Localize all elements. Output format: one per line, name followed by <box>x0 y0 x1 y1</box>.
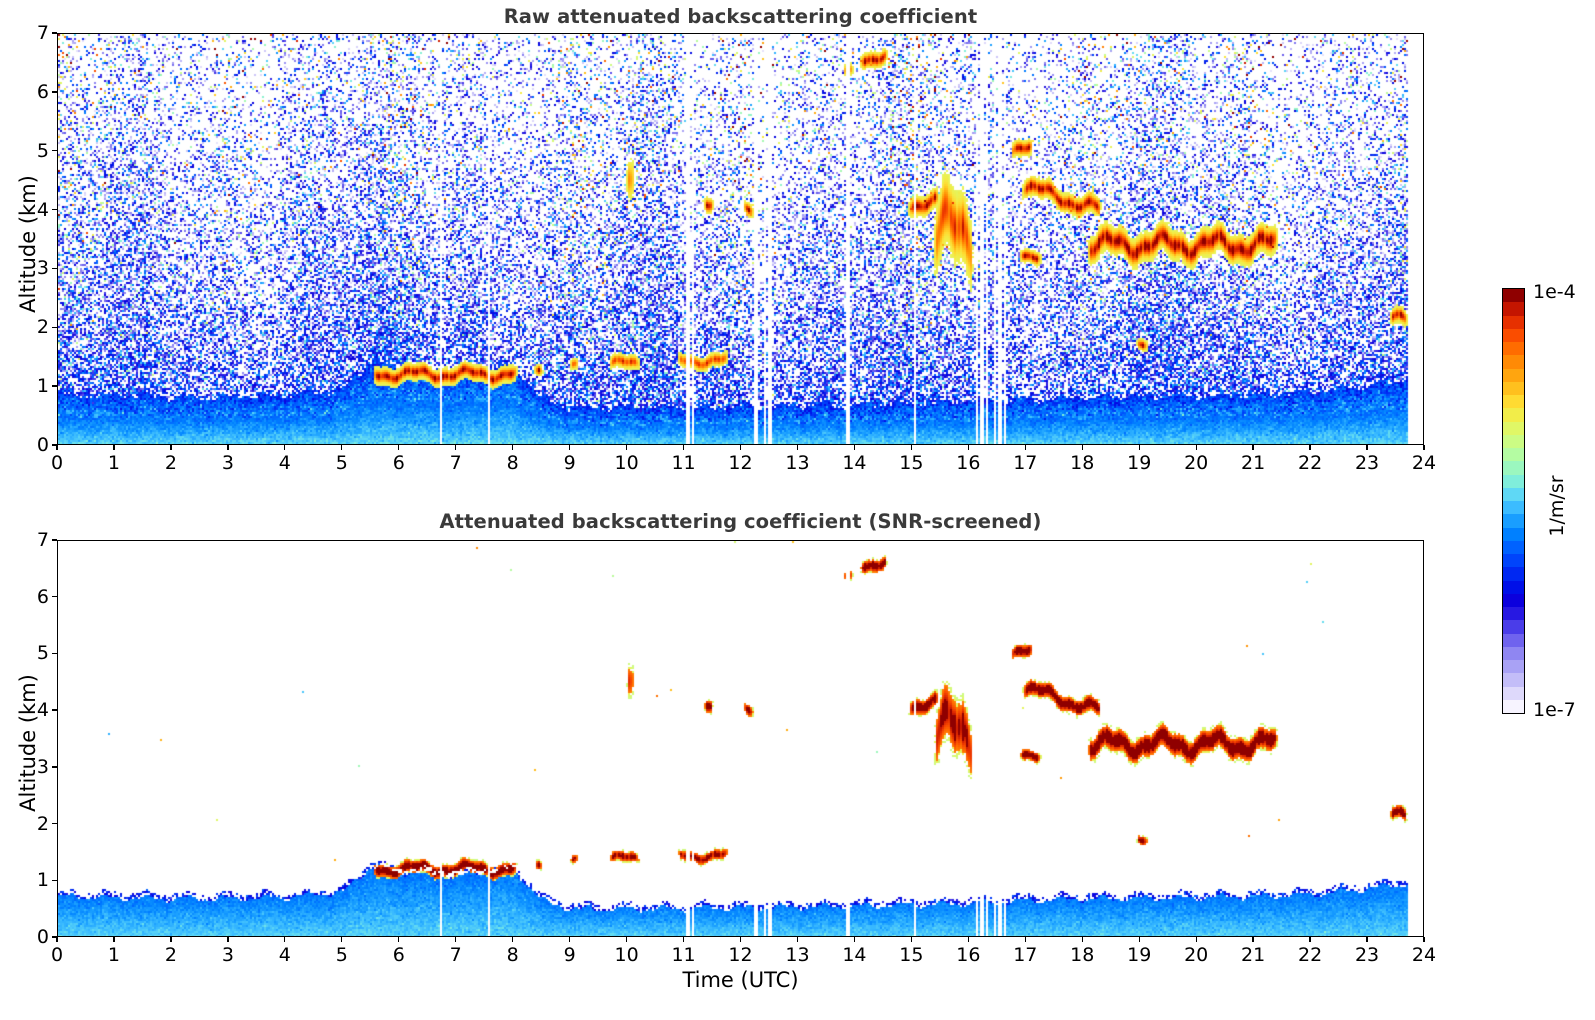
y-tick-mark <box>52 32 57 33</box>
x-tick-label: 19 <box>1119 944 1159 966</box>
colorbar-segment <box>1503 687 1524 700</box>
colorbar-segment <box>1503 528 1524 541</box>
x-tick-label: 17 <box>1005 452 1045 474</box>
x-tick-label: 21 <box>1233 944 1273 966</box>
y-tick-mark <box>52 385 57 386</box>
x-tick-mark <box>1252 937 1253 942</box>
x-tick-label: 12 <box>721 944 761 966</box>
y-axis-label-raw: Altitude (km) <box>16 164 40 324</box>
x-tick-label: 23 <box>1347 944 1387 966</box>
colorbar-segment <box>1503 488 1524 501</box>
x-tick-mark <box>455 445 456 450</box>
x-tick-mark <box>455 937 456 942</box>
x-tick-mark <box>1025 445 1026 450</box>
x-tick-mark <box>740 445 741 450</box>
x-tick-mark <box>569 937 570 942</box>
figure-canvas: Raw attenuated backscattering coefficien… <box>0 0 1595 1020</box>
x-tick-label: 14 <box>834 452 874 474</box>
x-tick-mark <box>398 445 399 450</box>
y-tick-mark <box>52 596 57 597</box>
x-tick-label: 18 <box>1062 944 1102 966</box>
x-tick-mark <box>284 445 285 450</box>
x-tick-mark <box>1082 937 1083 942</box>
x-tick-mark <box>797 937 798 942</box>
colorbar-segment <box>1503 435 1524 448</box>
colorbar-segment <box>1503 461 1524 474</box>
x-tick-label: 13 <box>777 452 817 474</box>
x-tick-label: 8 <box>493 944 533 966</box>
x-tick-mark <box>227 937 228 942</box>
x-tick-mark <box>1196 445 1197 450</box>
y-tick-label: 7 <box>19 529 49 551</box>
x-tick-mark <box>626 937 627 942</box>
colorbar-segment <box>1503 289 1524 302</box>
x-tick-label: 11 <box>664 452 704 474</box>
x-tick-label: 1 <box>94 452 134 474</box>
x-tick-mark <box>569 445 570 450</box>
colorbar-segment <box>1503 382 1524 395</box>
x-tick-mark <box>683 445 684 450</box>
x-tick-label: 24 <box>1404 944 1444 966</box>
plot-area-raw <box>57 33 1424 445</box>
x-tick-label: 16 <box>948 944 988 966</box>
x-tick-mark <box>1309 937 1310 942</box>
x-tick-mark <box>284 937 285 942</box>
colorbar-segment <box>1503 660 1524 673</box>
x-tick-mark <box>170 445 171 450</box>
y-tick-mark <box>52 539 57 540</box>
x-tick-mark <box>1082 445 1083 450</box>
colorbar-segment <box>1503 422 1524 435</box>
y-tick-mark <box>52 709 57 710</box>
x-tick-label: 4 <box>265 452 305 474</box>
y-axis-label-screened: Altitude (km) <box>16 663 40 823</box>
panel-title-screened: Attenuated backscattering coefficient (S… <box>57 510 1424 533</box>
x-tick-label: 5 <box>322 452 362 474</box>
x-tick-mark <box>968 445 969 450</box>
x-tick-mark <box>398 937 399 942</box>
x-tick-label: 7 <box>436 944 476 966</box>
colorbar-segment <box>1503 567 1524 580</box>
y-tick-mark <box>52 823 57 824</box>
x-tick-label: 20 <box>1176 452 1216 474</box>
heatmap-raw <box>58 34 1424 445</box>
colorbar-segment <box>1503 594 1524 607</box>
x-tick-mark <box>854 445 855 450</box>
x-tick-label: 3 <box>208 944 248 966</box>
x-tick-mark <box>911 445 912 450</box>
x-tick-mark <box>1196 937 1197 942</box>
x-axis-label-time: Time (UTC) <box>57 968 1424 992</box>
y-tick-label: 5 <box>19 642 49 664</box>
colorbar-segment <box>1503 355 1524 368</box>
colorbar-segment <box>1503 541 1524 554</box>
x-tick-mark <box>56 937 57 942</box>
x-tick-mark <box>1423 937 1424 942</box>
colorbar <box>1502 288 1525 714</box>
y-tick-label: 6 <box>19 586 49 608</box>
colorbar-segment <box>1503 501 1524 514</box>
heatmap-screened <box>58 541 1424 937</box>
x-tick-mark <box>968 937 969 942</box>
x-tick-label: 24 <box>1404 452 1444 474</box>
colorbar-segment <box>1503 329 1524 342</box>
x-tick-mark <box>1309 445 1310 450</box>
x-tick-label: 1 <box>94 944 134 966</box>
colorbar-segment <box>1503 342 1524 355</box>
x-tick-label: 2 <box>151 452 191 474</box>
panel-title-raw: Raw attenuated backscattering coefficien… <box>57 5 1424 28</box>
x-tick-label: 6 <box>379 452 419 474</box>
x-tick-label: 5 <box>322 944 362 966</box>
x-tick-mark <box>911 937 912 942</box>
colorbar-segment <box>1503 369 1524 382</box>
x-tick-mark <box>227 445 228 450</box>
x-tick-label: 0 <box>37 944 77 966</box>
x-tick-label: 6 <box>379 944 419 966</box>
x-tick-label: 19 <box>1119 452 1159 474</box>
x-tick-mark <box>1423 445 1424 450</box>
x-tick-mark <box>740 937 741 942</box>
x-tick-label: 15 <box>891 452 931 474</box>
x-tick-label: 7 <box>436 452 476 474</box>
x-tick-label: 13 <box>777 944 817 966</box>
x-tick-label: 10 <box>607 452 647 474</box>
colorbar-segment <box>1503 475 1524 488</box>
x-tick-mark <box>56 445 57 450</box>
y-tick-mark <box>52 91 57 92</box>
colorbar-segment <box>1503 448 1524 461</box>
x-tick-mark <box>1366 445 1367 450</box>
x-tick-mark <box>1139 937 1140 942</box>
colorbar-segment <box>1503 581 1524 594</box>
colorbar-segment <box>1503 395 1524 408</box>
x-tick-mark <box>1366 937 1367 942</box>
y-tick-label: 7 <box>19 22 49 44</box>
x-tick-mark <box>1025 937 1026 942</box>
x-tick-label: 14 <box>834 944 874 966</box>
x-tick-label: 23 <box>1347 452 1387 474</box>
y-tick-label: 5 <box>19 140 49 162</box>
plot-area-screened <box>57 540 1424 937</box>
x-tick-label: 16 <box>948 452 988 474</box>
x-tick-label: 21 <box>1233 452 1273 474</box>
y-tick-mark <box>52 327 57 328</box>
x-tick-label: 0 <box>37 452 77 474</box>
colorbar-segment <box>1503 673 1524 686</box>
x-tick-mark <box>797 445 798 450</box>
y-tick-mark <box>52 880 57 881</box>
y-tick-mark <box>52 766 57 767</box>
y-tick-mark <box>52 268 57 269</box>
colorbar-segment <box>1503 408 1524 421</box>
y-tick-mark <box>52 150 57 151</box>
x-tick-mark <box>341 445 342 450</box>
x-tick-label: 9 <box>550 944 590 966</box>
x-tick-mark <box>512 445 513 450</box>
x-tick-label: 22 <box>1290 944 1330 966</box>
colorbar-segment <box>1503 554 1524 567</box>
x-tick-mark <box>683 937 684 942</box>
x-tick-label: 3 <box>208 452 248 474</box>
y-tick-label: 1 <box>19 869 49 891</box>
x-tick-label: 11 <box>664 944 704 966</box>
y-tick-label: 6 <box>19 81 49 103</box>
x-tick-label: 10 <box>607 944 647 966</box>
x-tick-mark <box>1139 445 1140 450</box>
x-tick-label: 18 <box>1062 452 1102 474</box>
x-tick-mark <box>512 937 513 942</box>
x-tick-mark <box>1252 445 1253 450</box>
colorbar-segment <box>1503 620 1524 633</box>
x-tick-mark <box>113 445 114 450</box>
colorbar-tick-max: 1e-4 <box>1533 281 1576 303</box>
colorbar-segment <box>1503 302 1524 315</box>
colorbar-segment <box>1503 514 1524 527</box>
colorbar-segment <box>1503 607 1524 620</box>
x-tick-label: 20 <box>1176 944 1216 966</box>
x-tick-mark <box>626 445 627 450</box>
y-tick-label: 1 <box>19 375 49 397</box>
x-tick-mark <box>854 937 855 942</box>
x-tick-label: 4 <box>265 944 305 966</box>
x-tick-mark <box>170 937 171 942</box>
y-tick-mark <box>52 653 57 654</box>
colorbar-tick-min: 1e-7 <box>1533 699 1576 721</box>
colorbar-segment <box>1503 647 1524 660</box>
x-tick-label: 9 <box>550 452 590 474</box>
colorbar-segment <box>1503 634 1524 647</box>
x-tick-label: 12 <box>721 452 761 474</box>
x-tick-label: 8 <box>493 452 533 474</box>
x-tick-label: 22 <box>1290 452 1330 474</box>
x-tick-label: 17 <box>1005 944 1045 966</box>
x-tick-label: 2 <box>151 944 191 966</box>
x-tick-mark <box>113 937 114 942</box>
x-tick-mark <box>341 937 342 942</box>
y-tick-mark <box>52 209 57 210</box>
colorbar-segment <box>1503 316 1524 329</box>
x-tick-label: 15 <box>891 944 931 966</box>
colorbar-segment <box>1503 700 1524 713</box>
colorbar-label: 1/m/sr <box>1546 446 1568 566</box>
